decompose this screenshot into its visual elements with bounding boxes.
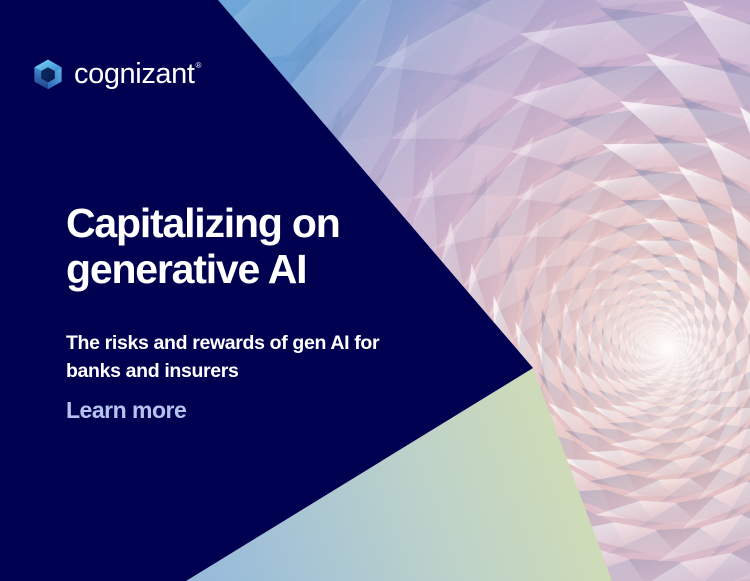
cognizant-display-ad: cognizant ® Capitalizing on generative A… [0, 0, 750, 581]
ad-content: cognizant ® Capitalizing on generative A… [0, 0, 460, 581]
subheadline: The risks and rewards of gen AI for bank… [66, 330, 416, 385]
brand-logo[interactable]: cognizant ® [31, 57, 201, 91]
headline: Capitalizing on generative AI [66, 200, 436, 293]
trademark-symbol: ® [196, 62, 202, 70]
learn-more-link[interactable]: Learn more [66, 397, 186, 425]
brand-wordmark: cognizant ® [74, 60, 201, 89]
cognizant-cube-logo-icon [31, 57, 65, 91]
brand-name: cognizant [74, 60, 195, 89]
